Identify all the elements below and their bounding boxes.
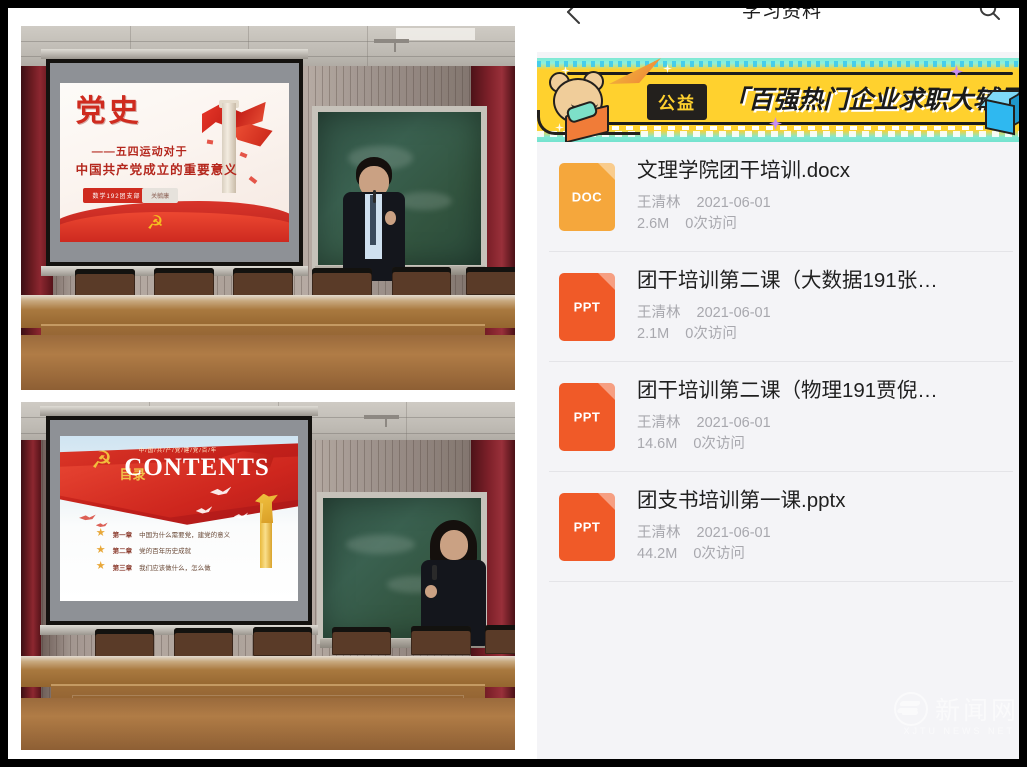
- file-type-icon-doc: DOC: [559, 163, 615, 231]
- file-name: 团干培训第二课（物理191贾倪…: [637, 378, 1015, 404]
- lecture-photo-bottom: ☭ 中/国/共/产/党/建/党/百/年 目录 CONTENTS: [21, 402, 515, 750]
- promo-banner-container[interactable]: 公益 「百强热门企业求职大辅导」: [537, 52, 1027, 142]
- watermark-logo-icon: [894, 692, 928, 726]
- watermark-text-en: XJTU NEWS NET: [903, 726, 1015, 736]
- slide-micro-title: 中/国/共/产/党/建/党/百/年: [139, 446, 218, 454]
- file-name: 文理学院团干培训.docx: [637, 158, 1015, 184]
- floor: [21, 335, 515, 390]
- watermark: 新闻网 XJTU NEWS NET: [894, 691, 1019, 727]
- mobile-app-screenshot: 学习资料: [537, 8, 1027, 759]
- slide-badge-class: 数学192团支部: [83, 188, 151, 203]
- banner-badge: 公益: [647, 84, 707, 120]
- party-emblem-icon: ☭: [147, 214, 173, 236]
- file-author-date: 王清林2021-06-01: [637, 523, 1015, 545]
- file-type-label: PPT: [559, 410, 615, 425]
- star-icon: ★: [96, 528, 106, 539]
- photo-column: 党史 ——五四运动对于 中国共产党成立的重要意义 数学192团支部 关毓康 ☭: [21, 18, 515, 758]
- file-type-label: PPT: [559, 520, 615, 535]
- file-type-label: DOC: [559, 190, 615, 205]
- lecture-photo-top: 党史 ——五四运动对于 中国共产党成立的重要意义 数学192团支部 关毓康 ☭: [21, 26, 515, 390]
- file-list: DOC 文理学院团干培训.docx 王清林2021-06-01 2.6M0次访问…: [537, 142, 1027, 582]
- floor: [21, 698, 515, 750]
- file-meta: 文理学院团干培训.docx 王清林2021-06-01 2.6M0次访问: [637, 158, 1015, 236]
- room-scene-top: 党史 ——五四运动对于 中国共产党成立的重要意义 数学192团支部 关毓康 ☭: [21, 26, 515, 390]
- file-author-date: 王清林2021-06-01: [637, 413, 1015, 435]
- file-size-visits: 2.1M0次访问: [637, 324, 1015, 346]
- cube-icon: [981, 88, 1025, 132]
- room-scene-bottom: ☭ 中/国/共/产/党/建/党/百/年 目录 CONTENTS: [21, 402, 515, 750]
- bear-mascot-icon: [543, 70, 621, 136]
- speaker-male: [337, 157, 411, 281]
- slide-title-en: CONTENTS: [124, 454, 270, 482]
- file-list-item[interactable]: PPT 团干培训第二课（物理191贾倪… 王清林2021-06-01 14.6M…: [537, 362, 1027, 472]
- slide-badge-name: 关毓康: [142, 188, 178, 203]
- app-header: 学习资料: [537, 8, 1027, 52]
- file-list-item[interactable]: DOC 文理学院团干培训.docx 王清林2021-06-01 2.6M0次访问: [537, 142, 1027, 252]
- promo-banner[interactable]: 公益 「百强热门企业求职大辅导」: [537, 58, 1027, 142]
- slide-item-3: ★ 第三章 我们应该做什么，怎么做: [96, 561, 211, 572]
- file-type-label: PPT: [559, 300, 615, 315]
- conference-desk-top: [21, 295, 515, 328]
- file-list-item[interactable]: PPT 团干培训第二课（大数据191张… 王清林2021-06-01 2.1M0…: [537, 252, 1027, 362]
- file-meta: 团支书培训第一课.pptx 王清林2021-06-01 44.2M0次访问: [637, 488, 1015, 566]
- conference-desk-top: [21, 656, 515, 687]
- star-icon: ★: [96, 561, 106, 572]
- slide-item-2: ★ 第二章 党的百年历史成就: [96, 545, 191, 556]
- search-icon[interactable]: [977, 8, 1003, 24]
- party-emblem-icon: ☭: [91, 449, 113, 473]
- projector-screen: 党史 ——五四运动对于 中国共产党成立的重要意义 数学192团支部 关毓康 ☭: [46, 59, 303, 266]
- slide-item-1: ★ 第一章 中国为什么需要党，建党的意义: [96, 528, 230, 539]
- screenshot-root: 党史 ——五四运动对于 中国共产党成立的重要意义 数学192团支部 关毓康 ☭: [0, 0, 1027, 767]
- slide-subtitle-1: ——五四运动对于: [92, 143, 188, 159]
- file-size-visits: 44.2M0次访问: [637, 544, 1015, 566]
- slide-title: 党史: [76, 97, 142, 127]
- star-icon: ★: [96, 545, 106, 556]
- file-type-icon-ppt: PPT: [559, 273, 615, 341]
- file-author-date: 王清林2021-06-01: [637, 193, 1015, 215]
- file-name: 团支书培训第一课.pptx: [637, 488, 1015, 514]
- file-author-date: 王清林2021-06-01: [637, 303, 1015, 325]
- file-size-visits: 14.6M0次访问: [637, 434, 1015, 456]
- file-name: 团干培训第二课（大数据191张…: [637, 268, 1015, 294]
- file-meta: 团干培训第二课（物理191贾倪… 王清林2021-06-01 14.6M0次访问: [637, 378, 1015, 456]
- file-size-visits: 2.6M0次访问: [637, 214, 1015, 236]
- file-list-item[interactable]: PPT 团支书培训第一课.pptx 王清林2021-06-01 44.2M0次访…: [537, 472, 1027, 582]
- file-type-icon-ppt: PPT: [559, 383, 615, 451]
- watermark-text-cn: 新闻网: [935, 691, 1019, 727]
- projector-screen: ☭ 中/国/共/产/党/建/党/百/年 目录 CONTENTS: [46, 416, 313, 625]
- file-type-icon-ppt: PPT: [559, 493, 615, 561]
- file-meta: 团干培训第二课（大数据191张… 王清林2021-06-01 2.1M0次访问: [637, 268, 1015, 346]
- slide-subtitle-2: 中国共产党成立的重要意义: [76, 159, 238, 178]
- slide-party-history: 党史 ——五四运动对于 中国共产党成立的重要意义 数学192团支部 关毓康 ☭: [60, 83, 289, 243]
- page-title: 学习资料: [537, 8, 1027, 23]
- slide-contents: ☭ 中/国/共/产/党/建/党/百/年 目录 CONTENTS: [60, 436, 298, 601]
